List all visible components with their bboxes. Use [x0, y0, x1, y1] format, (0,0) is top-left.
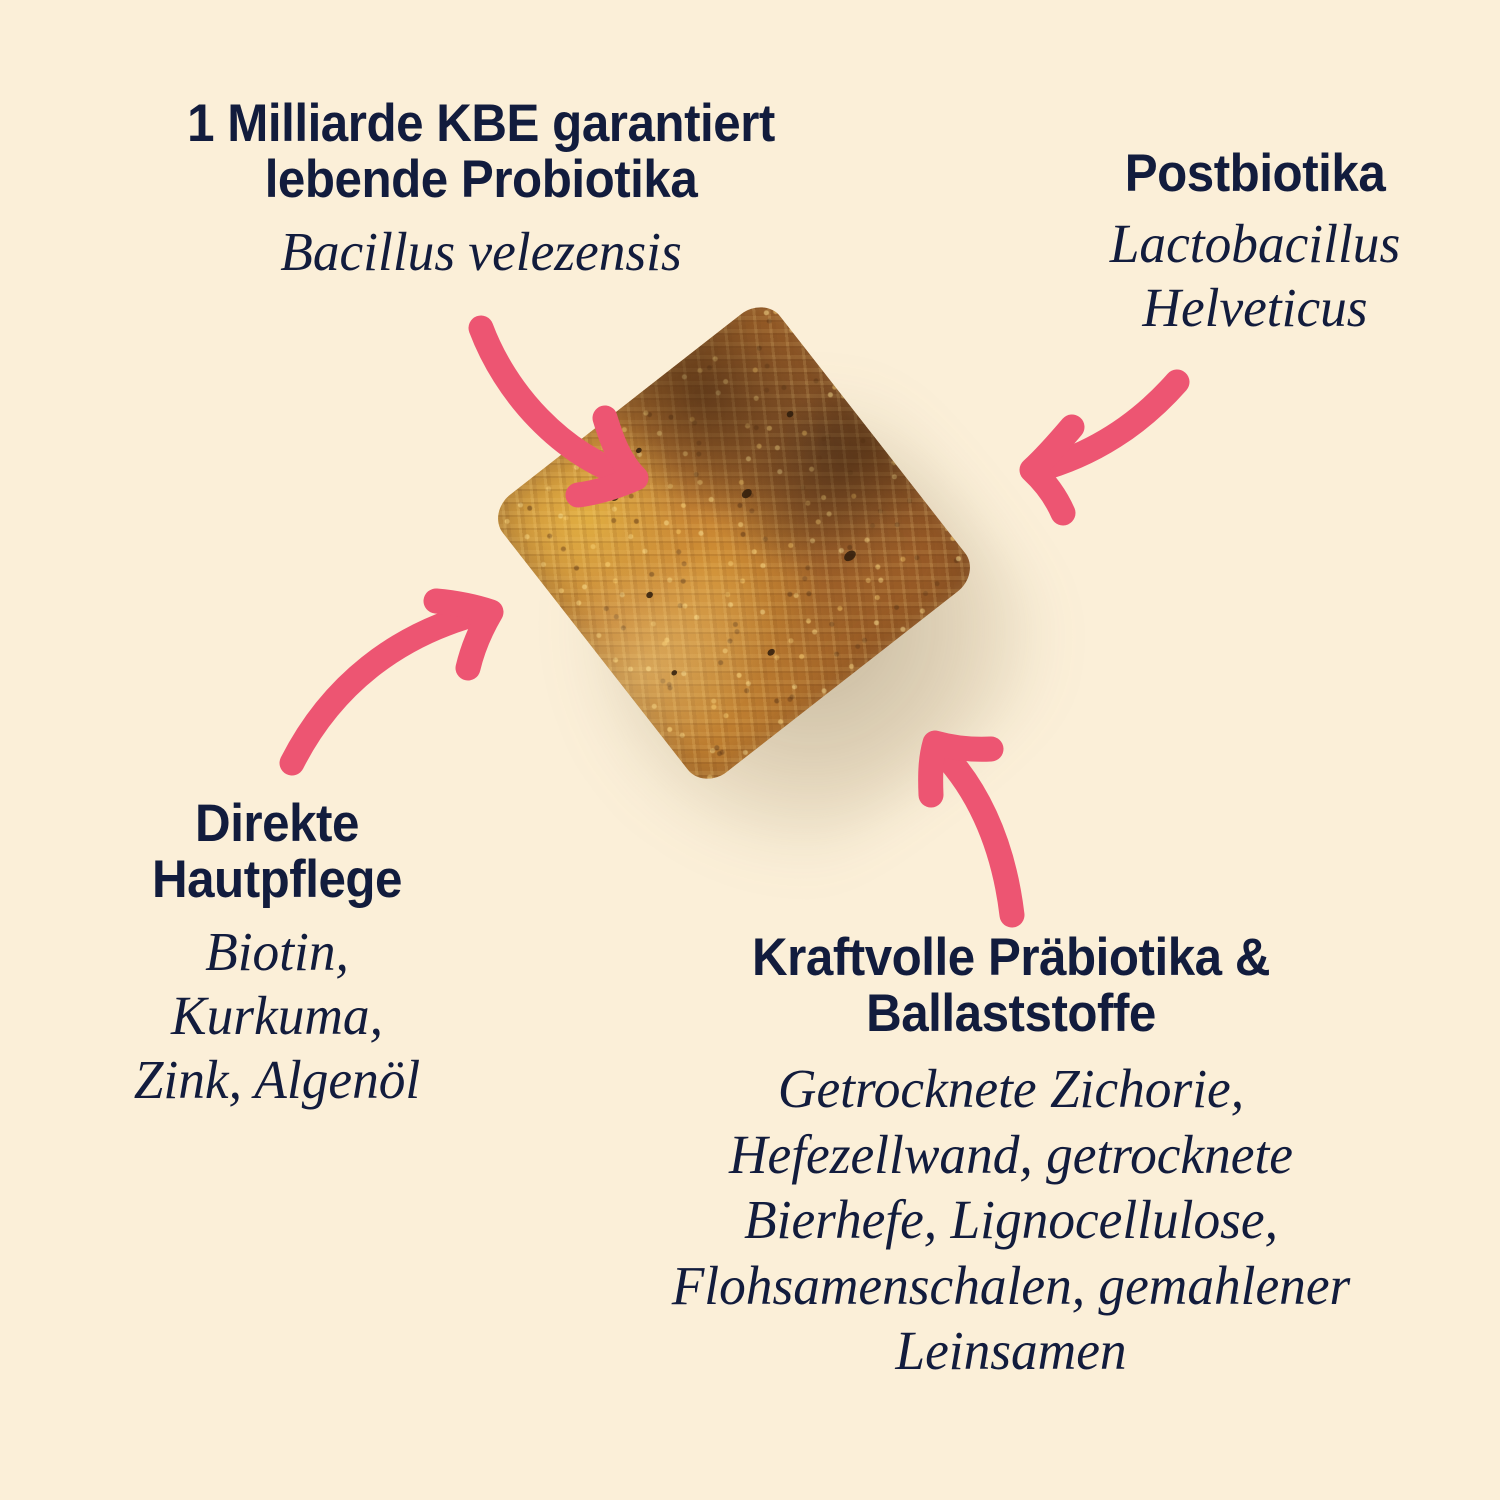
callout-probiotics-subtext: Bacillus velezensis	[108, 220, 855, 284]
callout-postbiotics-subtext: Lactobacillus Helveticus	[1061, 212, 1449, 340]
callout-probiotics-heading: 1 Milliarde KBE garantiert lebende Probi…	[123, 96, 839, 208]
callout-postbiotics-heading: Postbiotika	[1069, 146, 1441, 202]
callout-prebiotics-subtext: Getrocknete Zichorie, Hefezellwand, getr…	[579, 1056, 1442, 1383]
callout-skincare-heading: Direkte Hautpflege	[86, 796, 467, 908]
callout-prebiotics: Kraftvolle Präbiotika & Ballaststoffe Ge…	[566, 930, 1456, 1384]
callout-postbiotics: Postbiotika Lactobacillus Helveticus	[1055, 146, 1455, 340]
callout-probiotics: 1 Milliarde KBE garantiert lebende Probi…	[96, 96, 866, 284]
infographic-canvas: 1 Milliarde KBE garantiert lebende Probi…	[0, 0, 1500, 1500]
callout-skincare: Direkte Hautpflege Biotin, Kurkuma, Zink…	[72, 796, 482, 1112]
callout-prebiotics-heading: Kraftvolle Präbiotika & Ballaststoffe	[597, 930, 1425, 1042]
arrow-skincare-icon	[292, 601, 491, 763]
product-image	[533, 345, 1033, 845]
callout-skincare-subtext: Biotin, Kurkuma, Zink, Algenöl	[78, 920, 476, 1111]
arrow-postbiotics-icon	[1032, 382, 1177, 513]
